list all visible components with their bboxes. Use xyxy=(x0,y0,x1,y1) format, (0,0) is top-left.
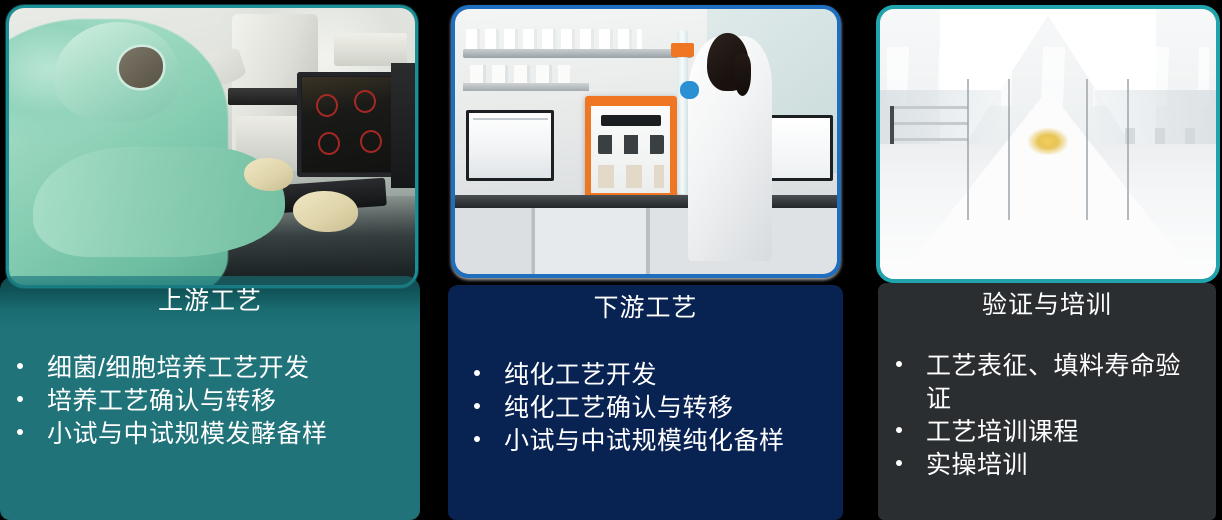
validation-text-panel: 验证与培训 工艺表征、填料寿命验证 工艺培训课程 实操培训 xyxy=(878,283,1216,520)
list-item: 工艺培训课程 xyxy=(926,416,1184,449)
bullet-text: 小试与中试规模发酵备样 xyxy=(47,420,328,448)
bullet-text: 小试与中试规模纯化备样 xyxy=(504,427,785,455)
cleanroom-corridor-photo xyxy=(880,9,1216,279)
upstream-photo-frame xyxy=(6,5,418,288)
list-item: 实操培训 xyxy=(926,449,1184,482)
bullet-dot-icon xyxy=(17,396,23,402)
downstream-text-panel: 下游工艺 纯化工艺开发 纯化工艺确认与转移 小试与中试规模纯化备样 xyxy=(448,285,843,520)
list-item: 细菌/细胞培养工艺开发 xyxy=(47,352,420,385)
list-item: 工艺表征、填料寿命验证 xyxy=(926,350,1184,416)
column-downstream: 下游工艺 纯化工艺开发 纯化工艺确认与转移 小试与中试规模纯化备样 xyxy=(448,0,844,520)
upstream-text-panel: 上游工艺 细菌/细胞培养工艺开发 培养工艺确认与转移 小试与中试规模发酵备样 xyxy=(0,276,420,520)
bullet-dot-icon xyxy=(17,363,23,369)
validation-photo-frame xyxy=(876,5,1220,283)
bullet-dot-icon xyxy=(896,460,902,466)
bullet-text: 纯化工艺开发 xyxy=(504,361,657,389)
bullet-dot-icon xyxy=(896,361,902,367)
bullet-dot-icon xyxy=(474,436,480,442)
bullet-text: 工艺表征、填料寿命验证 xyxy=(926,352,1181,413)
downstream-panel-title: 下游工艺 xyxy=(448,285,843,323)
bullet-text: 实操培训 xyxy=(926,451,1028,479)
downstream-bullet-list: 纯化工艺开发 纯化工艺确认与转移 小试与中试规模纯化备样 xyxy=(504,359,843,458)
bullet-text: 培养工艺确认与转移 xyxy=(47,387,277,415)
bullet-dot-icon xyxy=(896,427,902,433)
list-item: 纯化工艺开发 xyxy=(504,359,843,392)
upstream-panel-title: 上游工艺 xyxy=(0,276,420,316)
chromatography-lab-photo xyxy=(455,9,837,274)
lab-monitor-left xyxy=(466,110,554,182)
validation-panel-title: 验证与培训 xyxy=(878,283,1216,320)
list-item: 小试与中试规模纯化备样 xyxy=(504,425,843,458)
downstream-photo-frame xyxy=(451,5,841,278)
upstream-bullet-list: 细菌/细胞培养工艺开发 培养工艺确认与转移 小试与中试规模发酵备样 xyxy=(47,352,420,451)
column-validation-training: 验证与培训 工艺表征、填料寿命验证 工艺培训课程 实操培训 xyxy=(872,0,1222,520)
list-item: 培养工艺确认与转移 xyxy=(47,385,420,418)
list-item: 小试与中试规模发酵备样 xyxy=(47,418,420,451)
column-upstream: 上游工艺 细菌/细胞培养工艺开发 培养工艺确认与转移 小试与中试规模发酵备样 xyxy=(0,0,422,520)
bullet-dot-icon xyxy=(17,429,23,435)
bullet-dot-icon xyxy=(474,403,480,409)
bullet-text: 纯化工艺确认与转移 xyxy=(504,394,734,422)
slide-canvas: 上游工艺 细菌/细胞培养工艺开发 培养工艺确认与转移 小试与中试规模发酵备样 xyxy=(0,0,1222,520)
bullet-text: 细菌/细胞培养工艺开发 xyxy=(47,354,309,382)
list-item: 纯化工艺确认与转移 xyxy=(504,392,843,425)
validation-bullet-list: 工艺表征、填料寿命验证 工艺培训课程 实操培训 xyxy=(926,350,1216,482)
bullet-text: 工艺培训课程 xyxy=(926,418,1079,446)
cleanroom-microscope-photo xyxy=(9,8,415,285)
chromatography-skid xyxy=(585,96,677,202)
bullet-dot-icon xyxy=(474,370,480,376)
